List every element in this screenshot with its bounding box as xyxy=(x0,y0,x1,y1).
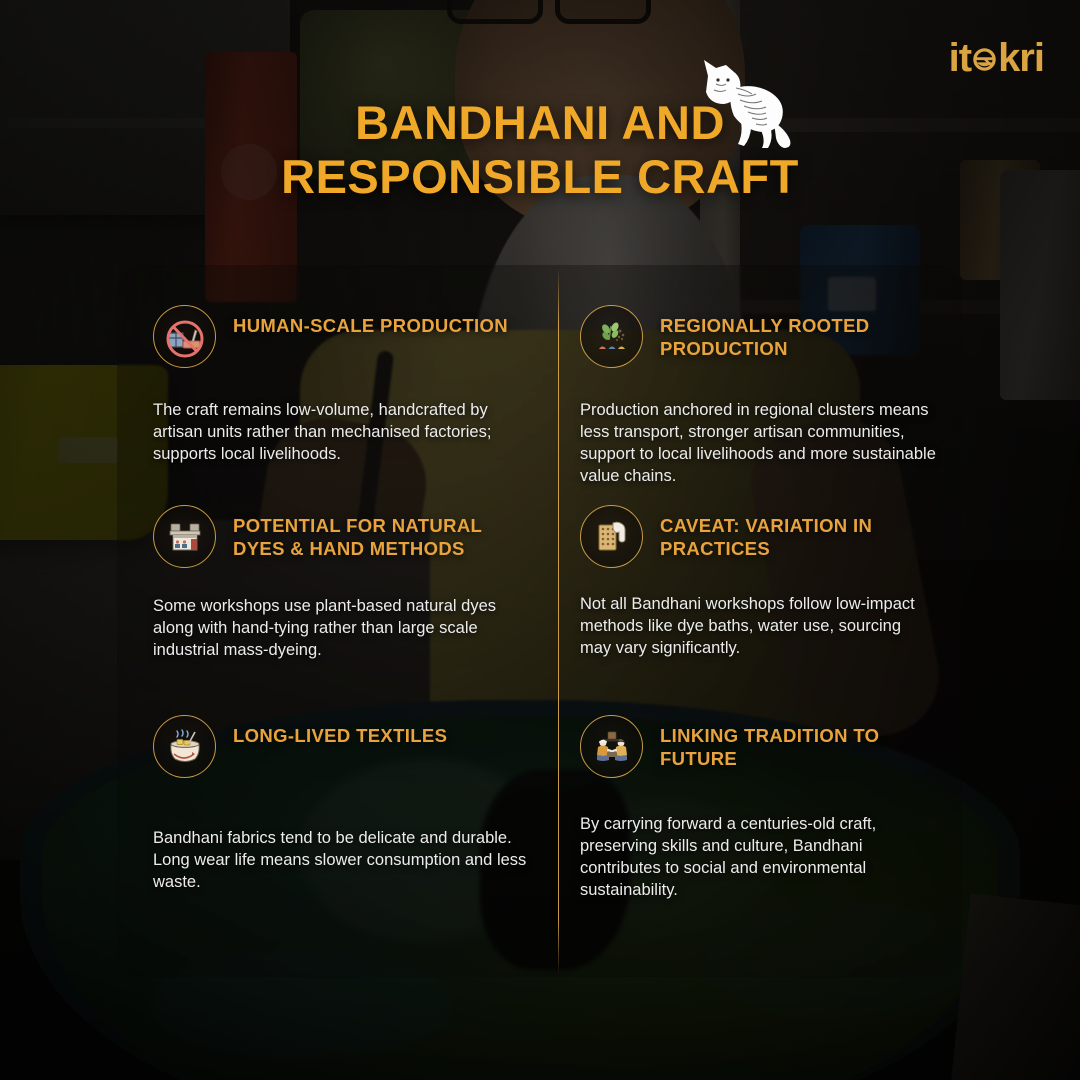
brand-logo-text-part1: it xyxy=(949,38,971,78)
card-human-scale-production: HUMAN-SCALE PRODUCTION The craft remains… xyxy=(117,265,558,465)
workshop-building-icon xyxy=(153,505,216,568)
two-artisans-icon xyxy=(580,715,643,778)
card-body: Not all Bandhani workshops follow low-im… xyxy=(580,594,936,660)
card-title: LINKING TRADITION TO FUTURE xyxy=(660,715,936,770)
card-body: Some workshops use plant-based natural d… xyxy=(153,596,528,662)
card-body: Bandhani fabrics tend to be delicate and… xyxy=(153,828,528,894)
no-factory-icon xyxy=(153,305,216,368)
card-title: REGIONALLY ROOTED PRODUCTION xyxy=(660,305,936,360)
card-caveat-variation-in-practices: CAVEAT: VARIATION IN PRACTICES Not all B… xyxy=(558,465,962,675)
card-long-lived-textiles: LONG-LIVED TEXTILES Bandhani fabrics ten… xyxy=(117,675,558,977)
card-natural-dyes-hand-methods: POTENTIAL FOR NATURAL DYES & HAND METHOD… xyxy=(117,465,558,675)
cards-grid: HUMAN-SCALE PRODUCTION The craft remains… xyxy=(117,265,962,977)
card-regionally-rooted-production: REGIONALLY ROOTED PRODUCTION Production … xyxy=(558,265,962,465)
card-header: CAVEAT: VARIATION IN PRACTICES xyxy=(580,505,936,568)
card-title: LONG-LIVED TEXTILES xyxy=(233,715,447,748)
card-header: LONG-LIVED TEXTILES xyxy=(153,715,528,778)
page-title-line-1: BANDHANI AND xyxy=(150,96,930,150)
card-title: POTENTIAL FOR NATURAL DYES & HAND METHOD… xyxy=(233,505,528,560)
seedling-dye-icon xyxy=(580,305,643,368)
card-header: REGIONALLY ROOTED PRODUCTION xyxy=(580,305,936,368)
card-header: LINKING TRADITION TO FUTURE xyxy=(580,715,936,778)
card-body: By carrying forward a centuries-old craf… xyxy=(580,814,936,902)
card-header: HUMAN-SCALE PRODUCTION xyxy=(153,305,528,368)
basket-icon xyxy=(972,46,997,71)
dye-pot-icon xyxy=(153,715,216,778)
card-linking-tradition-to-future: LINKING TRADITION TO FUTURE By carrying … xyxy=(558,675,962,977)
card-title: HUMAN-SCALE PRODUCTION xyxy=(233,305,508,338)
brand-logo[interactable]: it kri xyxy=(949,38,1044,78)
card-header: POTENTIAL FOR NATURAL DYES & HAND METHOD… xyxy=(153,505,528,568)
card-title: CAVEAT: VARIATION IN PRACTICES xyxy=(660,505,936,560)
infographic-poster: it kri BANDHANI AND RESPONSIBLE CRAFT xyxy=(0,0,1080,1080)
page-title-line-2: RESPONSIBLE CRAFT xyxy=(150,150,930,204)
hand-holding-fabric-icon xyxy=(580,505,643,568)
brand-logo-text-part2: kri xyxy=(998,38,1044,78)
page-title: BANDHANI AND RESPONSIBLE CRAFT xyxy=(0,96,1080,203)
card-body: The craft remains low-volume, handcrafte… xyxy=(153,400,528,466)
